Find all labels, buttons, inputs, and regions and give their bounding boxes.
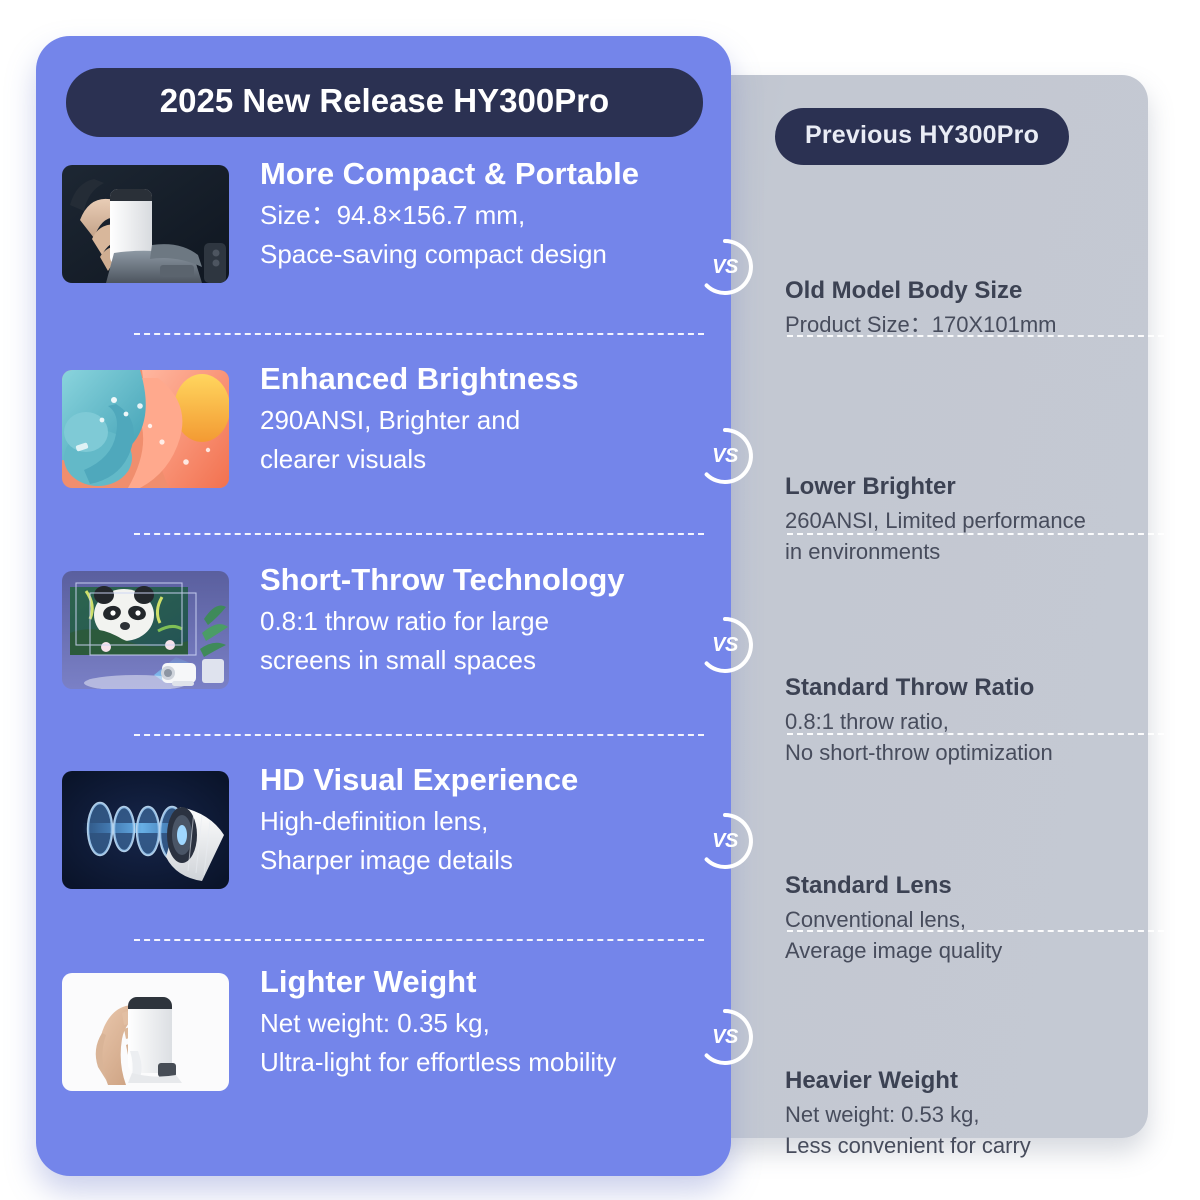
new-release-badge: 2025 New Release HY300Pro: [66, 68, 703, 137]
new-row-title: Short-Throw Technology: [260, 561, 720, 600]
previous-row-line1: Net weight: 0.53 kg,: [785, 1099, 1165, 1130]
previous-divider: [787, 533, 1164, 535]
new-divider: [134, 533, 704, 535]
previous-divider: [787, 335, 1164, 337]
colorful-glossy-flowers-photo: [62, 370, 229, 488]
new-release-panel: 2025 New Release HY300Pro: [36, 36, 731, 1176]
new-row-title: Enhanced Brightness: [260, 360, 720, 399]
vs-badge: VS: [696, 238, 754, 296]
new-divider: [134, 939, 704, 941]
previous-model-badge: Previous HY300Pro: [775, 108, 1069, 165]
new-row-title: More Compact & Portable: [260, 155, 720, 194]
new-row-line1: Net weight: 0.35 kg,: [260, 1004, 720, 1044]
new-row-hd-visual: HD Visual Experience High-definition len…: [62, 771, 722, 921]
new-row-line1: 290ANSI, Brighter and: [260, 401, 720, 441]
new-divider: [134, 333, 704, 335]
previous-row-throw-ratio: Standard Throw Ratio 0.8:1 throw ratio, …: [785, 672, 1165, 769]
vs-badge: VS: [696, 812, 754, 870]
previous-row-weight: Heavier Weight Net weight: 0.53 kg, Less…: [785, 1065, 1165, 1162]
new-row-text: More Compact & Portable Size：94.8×156.7 …: [260, 155, 720, 275]
new-row-weight: Lighter Weight Net weight: 0.35 kg, Ultr…: [62, 973, 722, 1123]
new-row-text: Short-Throw Technology 0.8:1 throw ratio…: [260, 561, 720, 681]
previous-row-body-size: Old Model Body Size Product Size：170X101…: [785, 275, 1165, 340]
vs-badge: VS: [696, 616, 754, 674]
new-divider: [134, 734, 704, 736]
previous-row-line2: Less convenient for carry: [785, 1130, 1165, 1161]
vs-badge: VS: [696, 1008, 754, 1066]
new-row-title: Lighter Weight: [260, 963, 720, 1002]
new-row-text: Lighter Weight Net weight: 0.35 kg, Ultr…: [260, 963, 720, 1083]
new-row-line1: 0.8:1 throw ratio for large: [260, 602, 720, 642]
new-row-compact: More Compact & Portable Size：94.8×156.7 …: [62, 165, 722, 315]
previous-row-title: Standard Lens: [785, 870, 1165, 901]
new-row-line2: Ultra-light for effortless mobility: [260, 1043, 720, 1083]
new-row-brightness: Enhanced Brightness 290ANSI, Brighter an…: [62, 370, 722, 520]
new-row-text: HD Visual Experience High-definition len…: [260, 761, 720, 881]
previous-row-line2: Average image quality: [785, 935, 1165, 966]
previous-row-title: Old Model Body Size: [785, 275, 1165, 306]
vs-label: VS: [696, 1008, 754, 1066]
new-row-line2: screens in small spaces: [260, 641, 720, 681]
new-row-line2: clearer visuals: [260, 440, 720, 480]
previous-row-line2: in environments: [785, 536, 1165, 567]
vs-label: VS: [696, 812, 754, 870]
new-row-title: HD Visual Experience: [260, 761, 720, 800]
previous-row-title: Heavier Weight: [785, 1065, 1165, 1096]
previous-divider: [787, 733, 1164, 735]
vs-badge: VS: [696, 427, 754, 485]
hand-holding-projector-photo: [62, 973, 229, 1091]
new-row-line2: Sharper image details: [260, 841, 720, 881]
exploded-lens-elements-photo: [62, 771, 229, 889]
vs-label: VS: [696, 427, 754, 485]
vs-label: VS: [696, 238, 754, 296]
previous-row-line1: 260ANSI, Limited performance: [785, 505, 1165, 536]
new-row-line1: High-definition lens,: [260, 802, 720, 842]
new-row-line1: Size：94.8×156.7 mm,: [260, 196, 720, 236]
new-row-text: Enhanced Brightness 290ANSI, Brighter an…: [260, 360, 720, 480]
previous-row-lens: Standard Lens Conventional lens, Average…: [785, 870, 1165, 967]
previous-row-line2: No short-throw optimization: [785, 737, 1165, 768]
comparison-infographic: Previous HY300Pro Old Model Body Size Pr…: [0, 0, 1200, 1200]
previous-divider: [787, 930, 1164, 932]
new-row-short-throw: Short-Throw Technology 0.8:1 throw ratio…: [62, 571, 722, 721]
previous-row-brightness: Lower Brighter 260ANSI, Limited performa…: [785, 471, 1165, 568]
previous-row-title: Standard Throw Ratio: [785, 672, 1165, 703]
projector-in-backpack-photo: [62, 165, 229, 283]
vs-label: VS: [696, 616, 754, 674]
new-row-line2: Space-saving compact design: [260, 235, 720, 275]
projector-panda-projection-photo: [62, 571, 229, 689]
previous-row-title: Lower Brighter: [785, 471, 1165, 502]
